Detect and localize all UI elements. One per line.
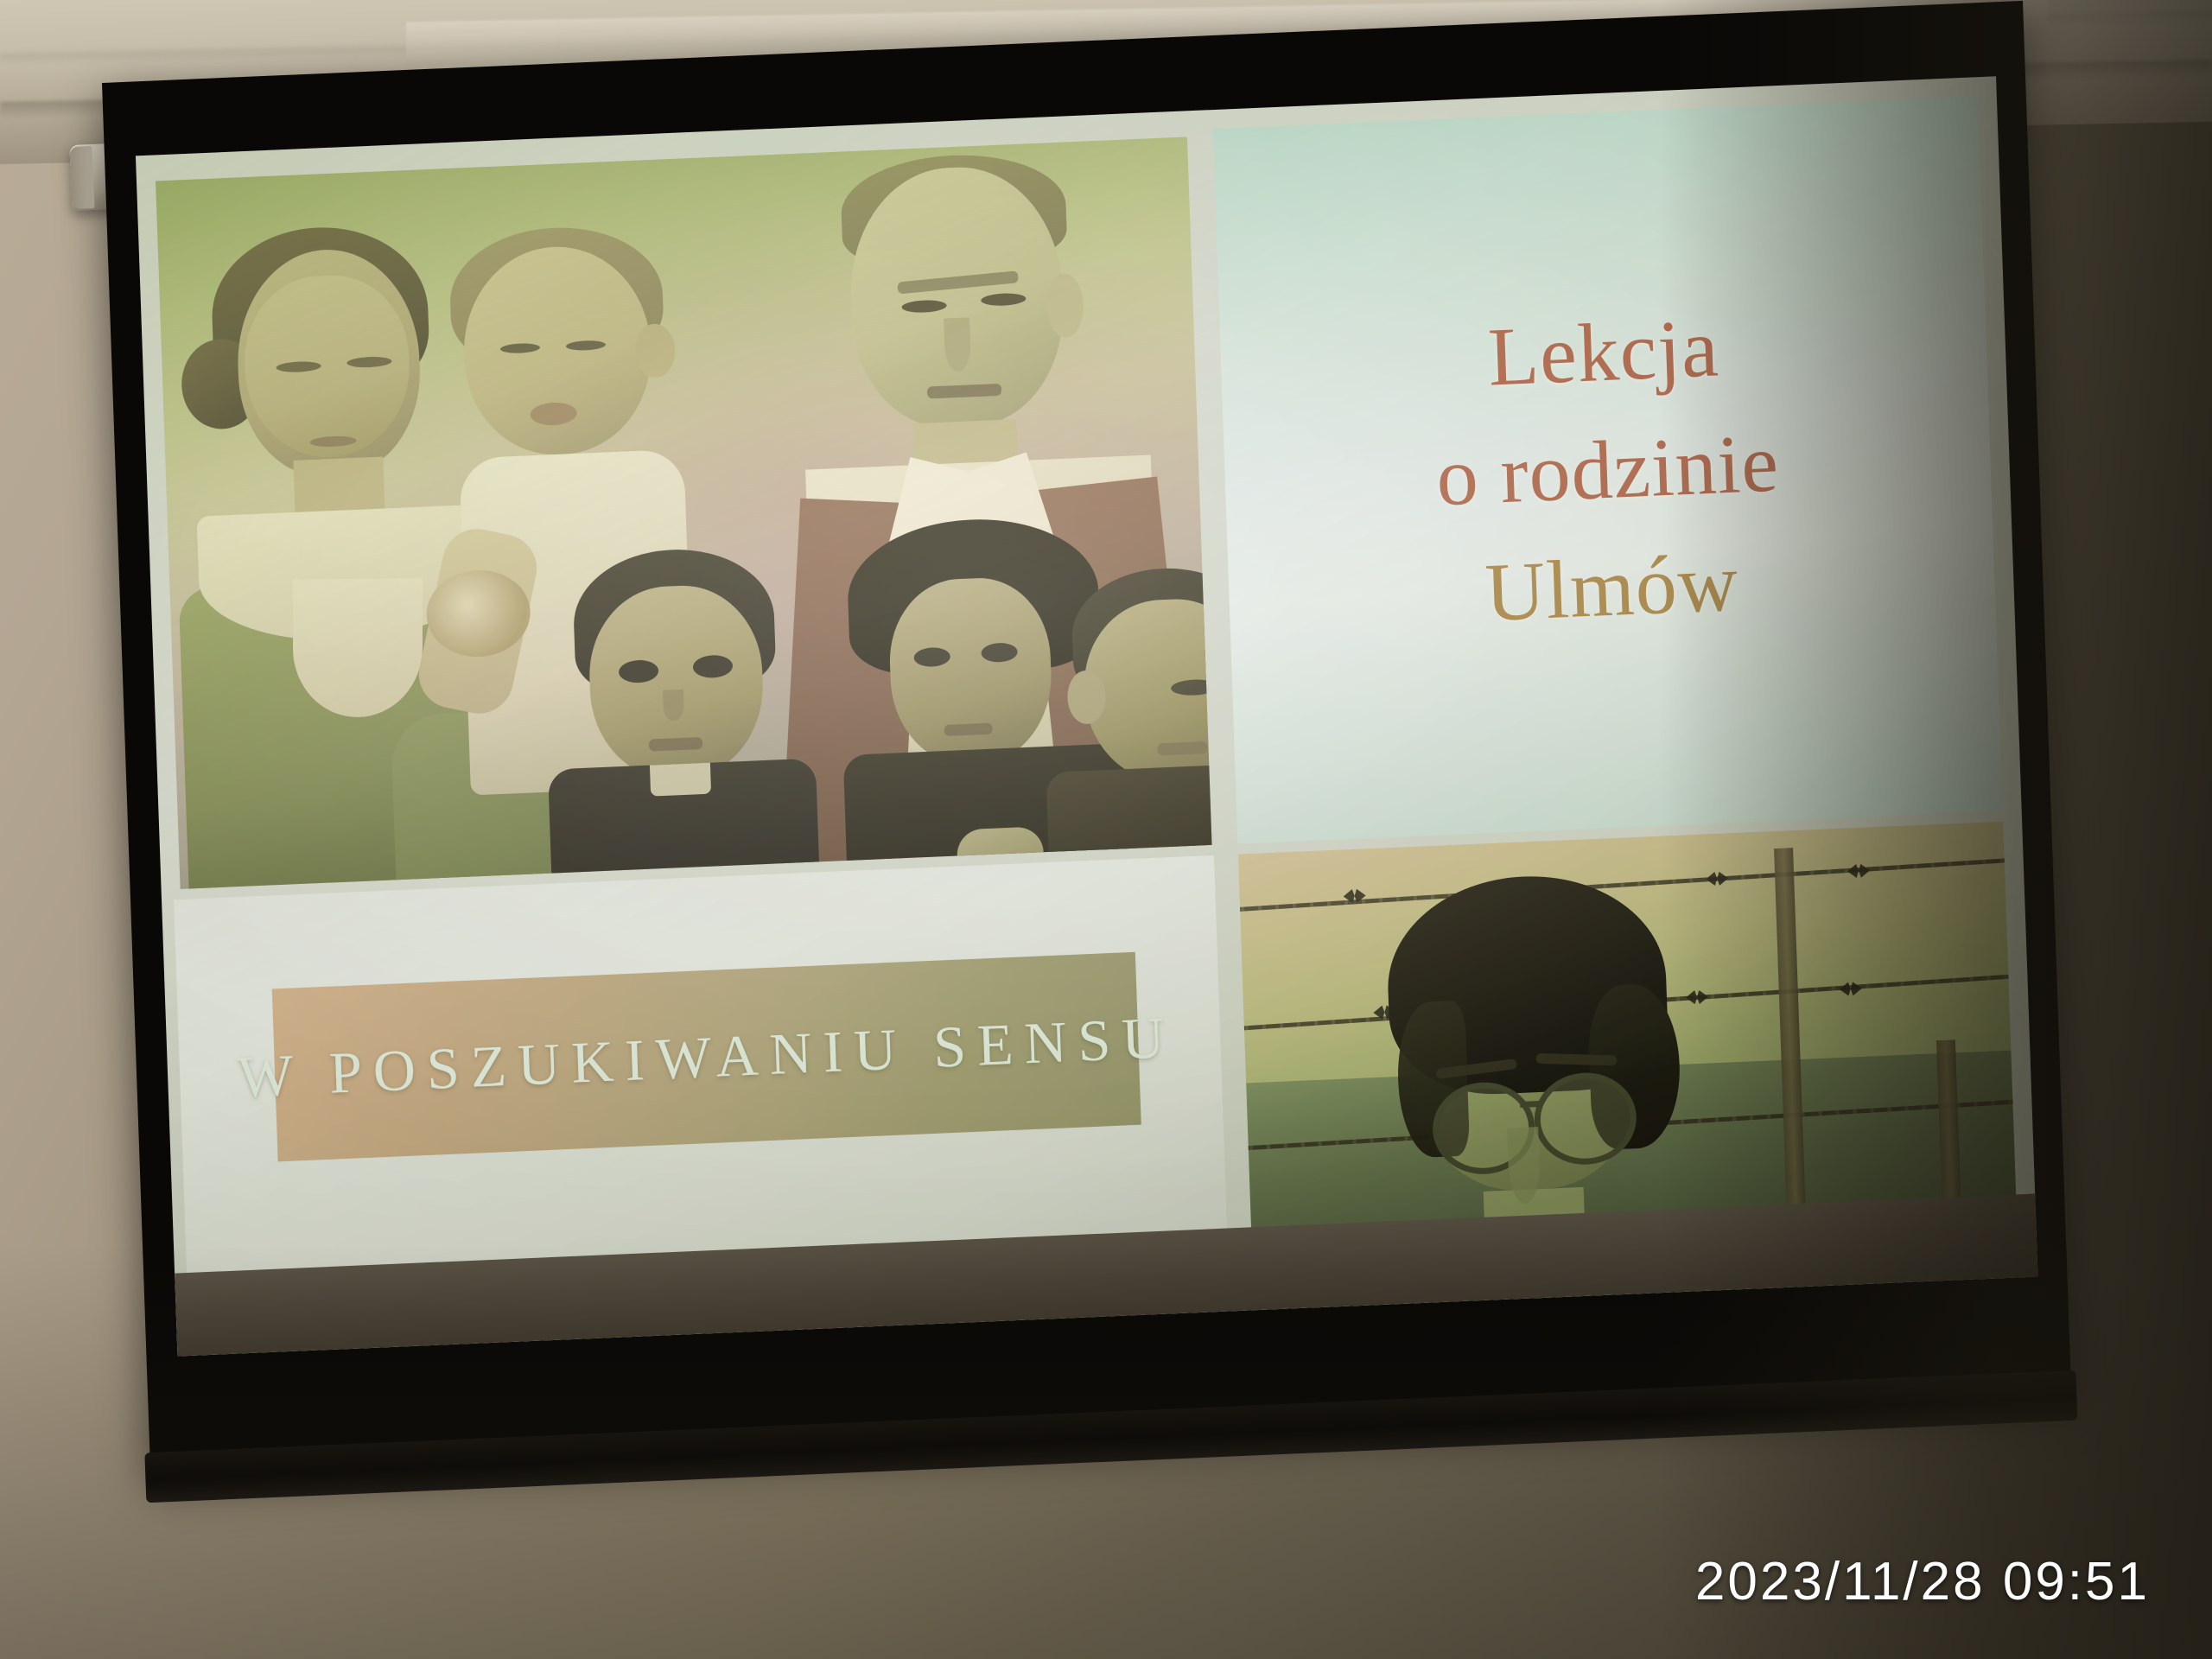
banner-backdrop: W POSZUKIWANIU SENSU xyxy=(174,855,1228,1299)
camera-timestamp: 2023/11/28 09:51 xyxy=(1695,1551,2150,1612)
family-photo-image xyxy=(156,137,1212,889)
subtitle-banner: W POSZUKIWANIU SENSU xyxy=(272,952,1141,1162)
room-photograph: Lekcja o rodzinie Ulmów W POSZUKIWANIU S… xyxy=(0,0,2212,1659)
subtitle-banner-text: W POSZUKIWANIU SENSU xyxy=(237,1002,1177,1110)
family-photo-color-wash xyxy=(156,137,1212,889)
roller-casing-endcap xyxy=(69,146,94,209)
